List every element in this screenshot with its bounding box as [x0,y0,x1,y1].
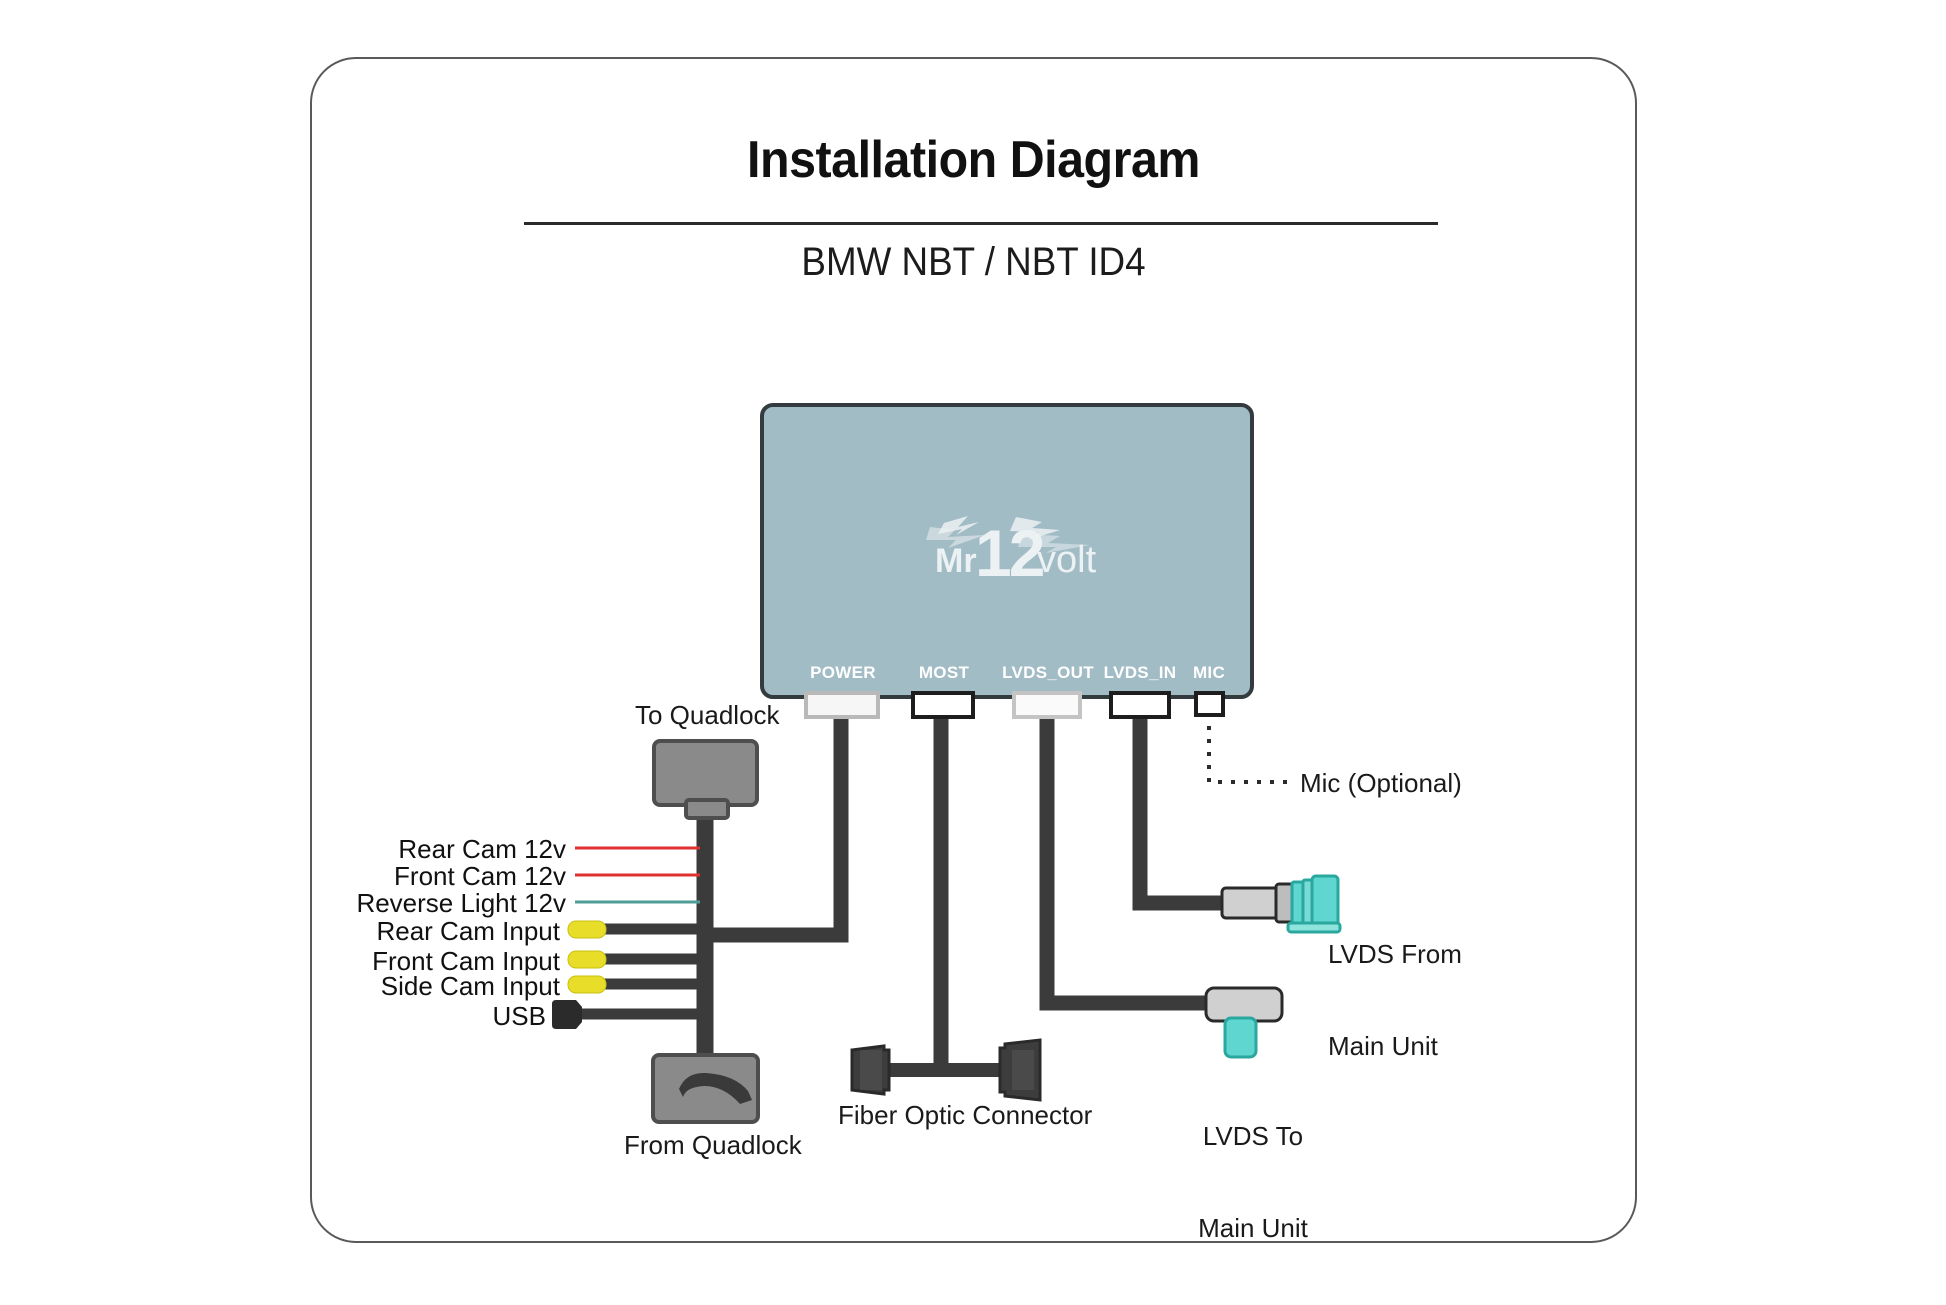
lvds-to-body [1206,988,1282,1021]
to-quadlock-neck [686,800,728,818]
to-quadlock-connector [654,741,757,818]
port-label-mic: MIC [1178,663,1240,683]
label-lvds-to-line2: Main Unit [1198,1213,1308,1244]
usb-connector-icon [552,1000,582,1029]
label-fiber-optic: Fiber Optic Connector [838,1100,1092,1131]
svg-text:12: 12 [975,516,1044,590]
wire-label-reverse-light-12v: Reverse Light 12v [170,888,566,919]
main-unit-box: Mr 12 volt [762,405,1252,697]
port-label-power: POWER [793,663,893,683]
port-shell-most [913,693,973,717]
label-lvds-to-main-unit: LVDS To Main Unit [1198,1060,1308,1305]
bare-wire-group [575,848,700,902]
port-shell-mic [1196,693,1223,715]
wire-label-usb: USB [170,1001,546,1032]
port-shells [806,693,1223,717]
label-from-quadlock: From Quadlock [624,1130,802,1161]
wire-label-rear-cam-input: Rear Cam Input [170,916,560,947]
label-mic-optional: Mic (Optional) [1300,768,1462,799]
rca-plug-side-cam [568,976,606,993]
cable-power [712,700,841,935]
from-quadlock-connector [653,1055,758,1122]
label-lvds-to-line1: LVDS To [1198,1121,1308,1152]
port-label-lvds-out: LVDS_OUT [992,663,1104,683]
rca-plug-rear-cam [568,921,606,938]
lvds-from-main-unit-connector [1222,876,1340,932]
lvds-to-main-unit-connector [1206,988,1282,1057]
diagram-canvas: Installation Diagram BMW NBT / NBT ID4 [0,0,1946,1297]
port-shell-lvds-in [1111,693,1169,717]
rca-plug-group [568,921,606,993]
wire-label-side-cam-input: Side Cam Input [170,971,560,1002]
label-to-quadlock: To Quadlock [635,700,780,731]
label-lvds-from-line2: Main Unit [1328,1031,1462,1062]
lvds-to-plug [1225,1018,1256,1057]
rca-plug-front-cam [568,951,606,968]
port-label-most: MOST [900,663,988,683]
port-shell-power [806,693,878,717]
port-label-lvds-in: LVDS_IN [1092,663,1188,683]
lvds-from-barrel [1222,888,1280,918]
cable-lvds-out [1047,700,1212,1003]
svg-text:Mr: Mr [935,542,977,580]
label-lvds-from-main-unit: LVDS From Main Unit [1328,878,1462,1123]
cable-lvds-in [1140,700,1228,903]
label-lvds-from-line1: LVDS From [1328,939,1462,970]
port-shell-lvds-out [1014,693,1080,717]
svg-text:volt: volt [1037,539,1097,581]
